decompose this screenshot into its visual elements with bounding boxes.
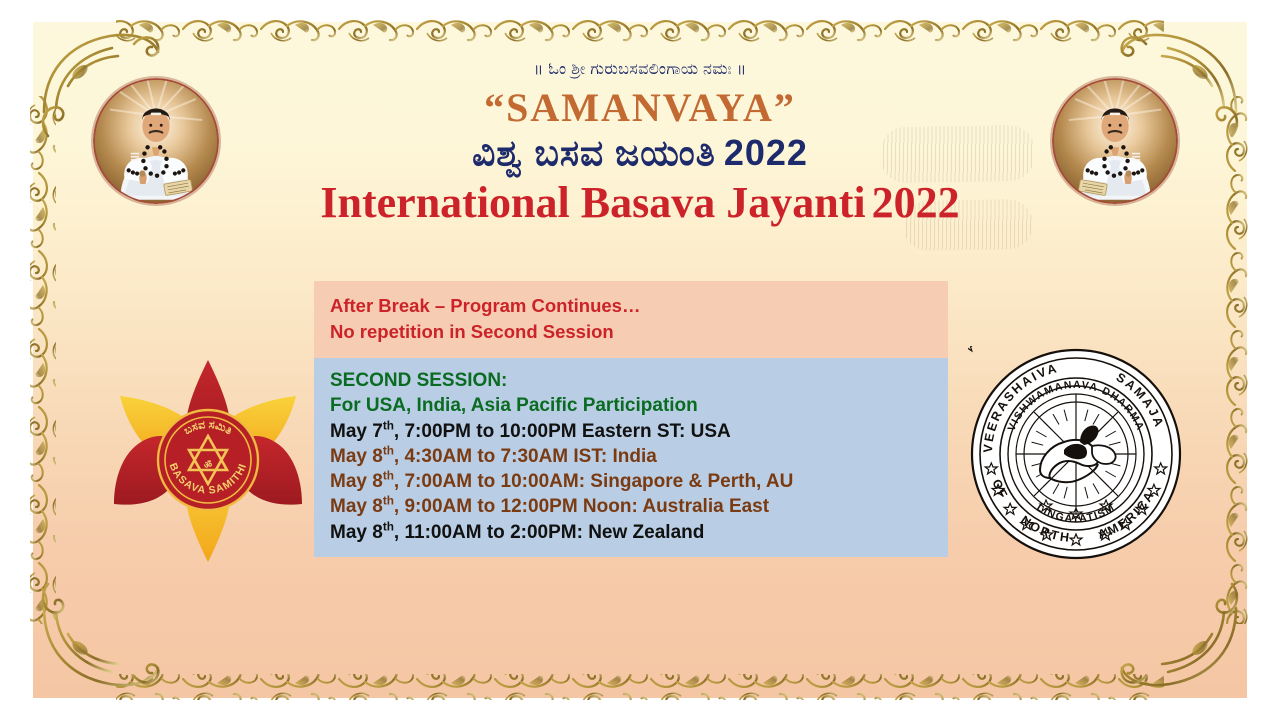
schedule-date: May 8 [330,446,383,467]
second-session-heading: SECOND SESSION: [330,368,932,393]
schedule-ordinal: th [383,419,394,432]
schedule-detail: , 7:00AM to 10:00AM: Singapore & Perth, … [394,471,793,492]
presentation-slide: ॥ ಓಂ ಶ್ರೀ ಗುರುಬಸವಲಿಂಗಾಯ ನಮಃ ॥ “SAMANVAYA… [0,0,1280,720]
kannada-title-line: ವಿಶ್ವ ಬಸವ ಜಯಂತಿ2022 [240,132,1040,173]
english-title-line: International Basava Jayanti2022 [240,179,1040,227]
schedule-row-usa: May 7th, 7:00PM to 10:00PM Eastern ST: U… [330,419,932,444]
schedule-ordinal: th [383,495,394,508]
schedule-row-australia-east: May 8th, 9:00AM to 12:00PM Noon: Austral… [330,494,932,519]
kannada-title-text: ವಿಶ್ವ ಬಸವ ಜಯಂತಿ [472,132,716,173]
break-notice-line-2: No repetition in Second Session [330,319,932,345]
schedule-row-india: May 8th, 4:30AM to 7:30AM IST: India [330,444,932,469]
samanvaya-title: “SAMANVAYA” [240,86,1040,130]
schedule-detail: , 9:00AM to 12:00PM Noon: Australia East [394,496,769,517]
session-info-panel: After Break – Program Continues… No repe… [314,281,948,557]
english-title-year: 2022 [872,178,960,227]
schedule-row-new-zealand: May 8th, 11:00AM to 2:00PM: New Zealand [330,520,932,545]
schedule-ordinal: th [383,470,394,483]
kannada-title-year: 2022 [724,132,808,173]
svg-text:ॐ: ॐ [204,460,212,470]
basava-samithi-lotus-emblem: ॐ ಬಸವ ಸಮಿತಿ BASAVA SAMITHI [98,352,318,568]
schedule-detail: , 11:00AM to 2:00PM: New Zealand [394,522,704,543]
schedule-date: May 8 [330,496,383,517]
schedule-detail: , 4:30AM to 7:30AM IST: India [394,446,657,467]
schedule-ordinal: th [383,445,394,458]
english-title-text: International Basava Jayanti [320,178,865,227]
schedule-ordinal: th [383,520,394,533]
schedule-date: May 7 [330,421,383,442]
invocation-line: ॥ ಓಂ ಶ್ರೀ ಗುರುಬಸವಲಿಂಗಾಯ ನಮಃ ॥ [240,60,1040,80]
title-block: ॥ ಓಂ ಶ್ರೀ ಗುರುಬಸವಲಿಂಗಾಯ ನಮಃ ॥ “SAMANVAYA… [240,60,1040,228]
break-notice-line-1: After Break – Program Continues… [330,293,932,319]
schedule-row-singapore-perth: May 8th, 7:00AM to 10:00AM: Singapore & … [330,469,932,494]
schedule-date: May 8 [330,471,383,492]
second-session-subheading: For USA, India, Asia Pacific Participati… [330,393,932,418]
schedule-detail: , 7:00PM to 10:00PM Eastern ST: USA [394,421,731,442]
veerashaiva-samaja-seal: VEERASHAIVA SAMAJA OF NORTH AMERICA VISH… [968,346,1184,562]
basavanna-portrait-left [93,78,219,204]
basavanna-portrait-right [1052,78,1178,204]
break-notice-block: After Break – Program Continues… No repe… [314,281,948,358]
schedule-date: May 8 [330,522,383,543]
second-session-block: SECOND SESSION: For USA, India, Asia Pac… [314,358,948,557]
